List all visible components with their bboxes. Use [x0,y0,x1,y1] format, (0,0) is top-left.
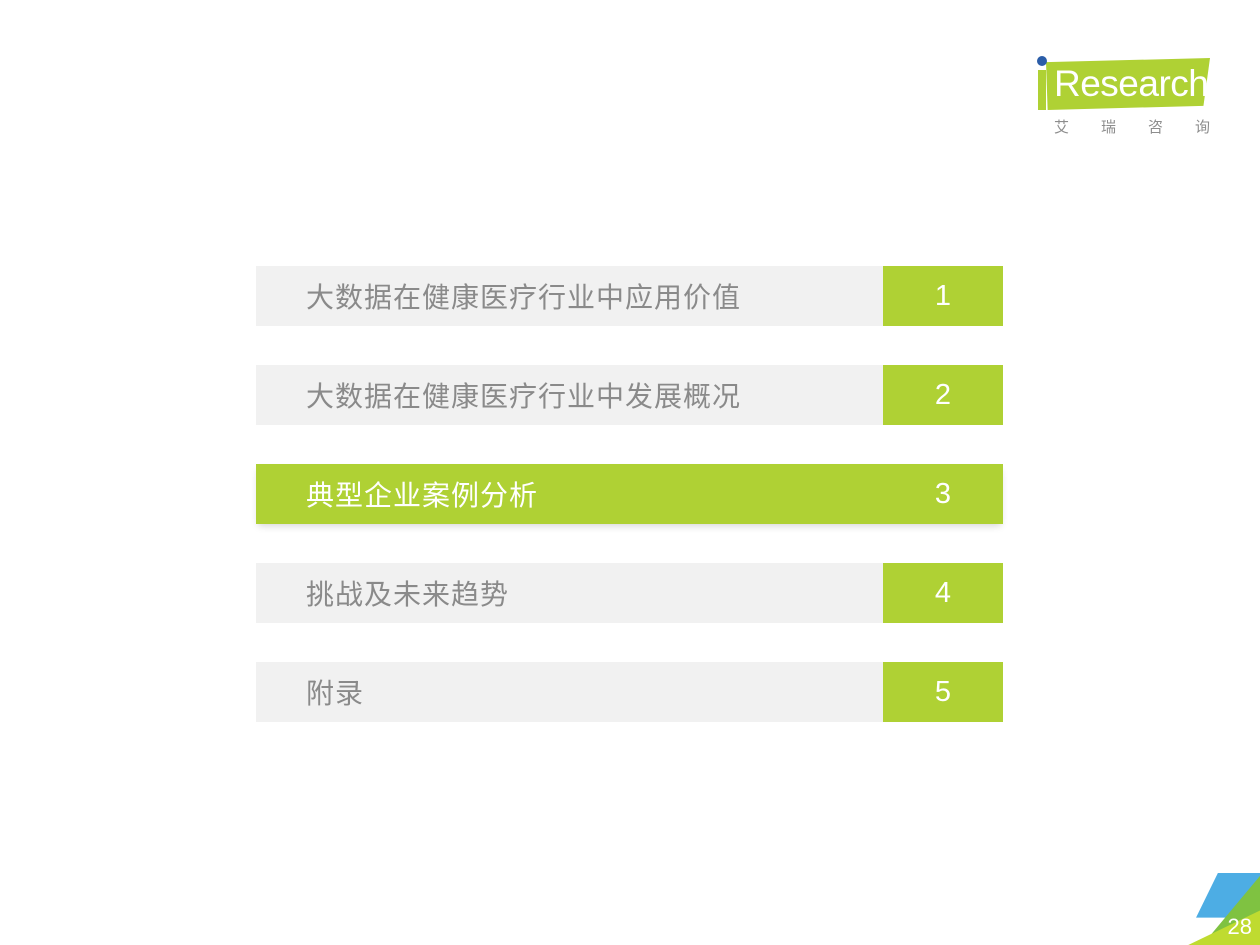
agenda-item-2-label: 大数据在健康医疗行业中发展概况 [256,365,883,425]
agenda-item-1-label: 大数据在健康医疗行业中应用价值 [256,266,883,326]
logo-wordmark: Research [1054,64,1208,104]
logo-subtitle-char-4: 询 [1195,116,1210,137]
logo-i-dot-icon [1037,56,1047,66]
agenda-item-3-number: 3 [883,464,1003,524]
agenda-item-5-number: 5 [883,662,1003,722]
page-number: 28 [1228,915,1252,939]
corner-decoration: 28 [1182,873,1260,945]
logo-mark: Research [1028,56,1210,112]
agenda-item-3[interactable]: 典型企业案例分析 3 [256,464,1003,524]
logo-subtitle-char-2: 瑞 [1101,116,1116,137]
logo-subtitle-char-1: 艾 [1054,116,1069,137]
logo-subtitle-char-3: 咨 [1148,116,1163,137]
agenda-item-2-number: 2 [883,365,1003,425]
agenda-item-5[interactable]: 附录 5 [256,662,1003,722]
agenda-item-4[interactable]: 挑战及未来趋势 4 [256,563,1003,623]
agenda-item-4-number: 4 [883,563,1003,623]
agenda-item-2[interactable]: 大数据在健康医疗行业中发展概况 2 [256,365,1003,425]
agenda-item-3-label: 典型企业案例分析 [256,464,883,524]
agenda-item-5-label: 附录 [256,662,883,722]
agenda-item-4-label: 挑战及未来趋势 [256,563,883,623]
logo-i-stem [1038,70,1046,110]
agenda-list: 大数据在健康医疗行业中应用价值 1 大数据在健康医疗行业中发展概况 2 典型企业… [256,266,1003,722]
agenda-item-1-number: 1 [883,266,1003,326]
logo-subtitle: 艾 瑞 咨 询 [1054,116,1210,137]
iresearch-logo: Research 艾 瑞 咨 询 [1028,56,1210,148]
agenda-item-1[interactable]: 大数据在健康医疗行业中应用价值 1 [256,266,1003,326]
